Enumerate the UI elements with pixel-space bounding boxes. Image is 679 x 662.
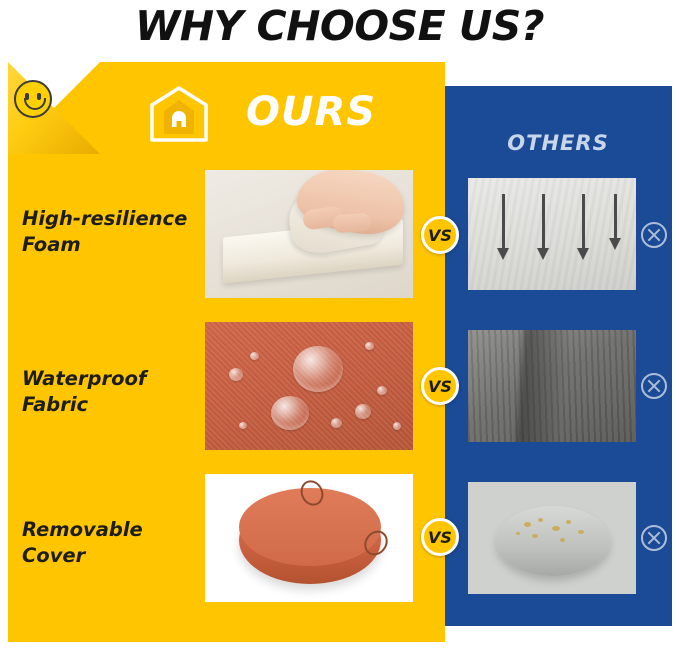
stain-speck <box>532 534 538 538</box>
others-label: OTHERS <box>444 131 672 155</box>
water-droplet <box>271 396 309 430</box>
row-label-high-resilience-foam: High-resilience Foam <box>22 206 202 258</box>
smiley-face-icon <box>14 80 52 118</box>
down-arrow-icon <box>542 194 545 250</box>
stain-speck <box>566 520 571 524</box>
row-label-line1: Removable <box>22 517 202 543</box>
house-badge-icon <box>148 85 210 143</box>
batting-background <box>468 178 636 290</box>
vs-badge: VS <box>421 367 459 405</box>
finger <box>332 213 371 234</box>
water-droplet <box>239 422 247 429</box>
water-droplet <box>229 368 243 381</box>
others-image-stained-cushion <box>468 482 636 594</box>
stain-speck <box>560 538 565 542</box>
page-title: WHY CHOOSE US? <box>0 2 679 50</box>
row-label-line1: High-resilience <box>22 206 202 232</box>
ours-image-waterproof-fabric <box>205 322 413 450</box>
gray-cushion-body <box>496 506 610 576</box>
water-droplet <box>250 352 259 360</box>
row-label-line2: Foam <box>22 232 202 258</box>
ours-header: OURS <box>148 85 378 147</box>
stain-speck <box>524 522 531 527</box>
circle-x-icon <box>641 373 667 399</box>
circle-x-icon <box>641 222 667 248</box>
others-image-soaked-fabric <box>468 330 636 442</box>
down-arrow-icon <box>614 194 617 240</box>
ours-image-foam <box>205 170 413 298</box>
water-droplet <box>293 346 343 392</box>
ours-label: OURS <box>246 89 376 135</box>
water-droplet <box>331 418 342 428</box>
row-label-line1: Waterproof <box>22 366 202 392</box>
row-label-line2: Fabric <box>22 392 202 418</box>
stain-speck <box>578 530 584 534</box>
others-image-flat-batting <box>468 178 636 290</box>
ours-image-removable-cover <box>205 474 413 602</box>
down-arrow-icon <box>502 194 505 250</box>
wet-stain <box>516 330 571 442</box>
why-choose-us-poster: WHY CHOOSE US? OTHERS OURS High-resilien… <box>0 0 679 662</box>
row-label-line2: Cover <box>22 543 202 569</box>
row-label-waterproof-fabric: Waterproof Fabric <box>22 366 202 418</box>
water-droplet <box>355 404 371 419</box>
water-droplet <box>377 386 387 395</box>
stain-speck <box>516 532 520 535</box>
water-droplet <box>365 342 374 350</box>
down-arrow-icon <box>582 194 585 250</box>
stain-speck <box>552 526 560 531</box>
vs-badge: VS <box>421 216 459 254</box>
vs-badge: VS <box>421 518 459 556</box>
circle-x-icon <box>641 525 667 551</box>
row-label-removable-cover: Removable Cover <box>22 517 202 569</box>
smiley-mouth <box>24 98 46 110</box>
water-droplet <box>393 422 401 430</box>
stain-speck <box>538 518 543 522</box>
